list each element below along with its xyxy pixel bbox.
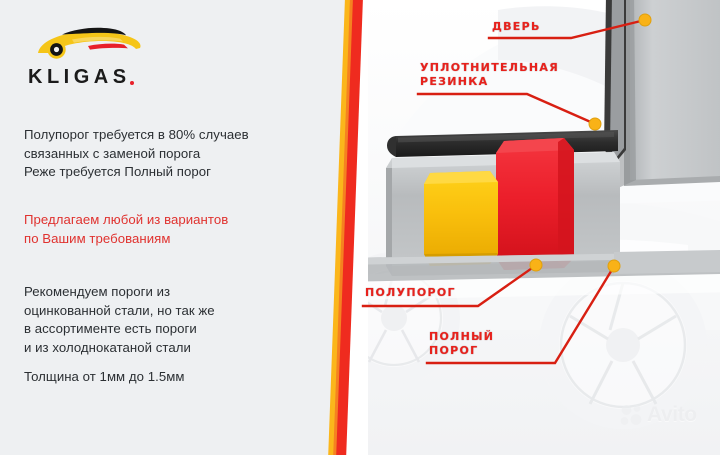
poster-root: KLIGAS Полупорог требуется в 80% случаев… <box>0 0 720 455</box>
sports-car-logo-icon <box>32 22 148 64</box>
avito-watermark: Avito <box>620 400 716 430</box>
text-recommendation: Рекомендуем пороги из оцинкованной стали… <box>24 283 324 357</box>
brand-logo: KLIGAS <box>24 22 184 94</box>
brand-wordmark: KLIGAS <box>28 66 131 89</box>
logo-accent-dot <box>130 81 134 85</box>
callout-label-half-sill: ПОЛУПОРОГ <box>365 286 456 300</box>
text-offer: Предлагаем любой из вариантов по Вашим т… <box>24 211 324 248</box>
callout-label-full-sill: ПОЛНЫЙ ПОРОГ <box>429 330 494 357</box>
left-info-panel: KLIGAS Полупорог требуется в 80% случаев… <box>0 0 345 455</box>
avito-watermark-text: Avito <box>647 403 697 427</box>
avito-dots-icon <box>620 404 644 426</box>
text-thickness: Толщина от 1мм до 1.5мм <box>24 368 324 387</box>
callout-label-door: ДВЕРЬ <box>492 20 541 34</box>
text-usage-stat: Полупорог требуется в 80% случаев связан… <box>24 126 324 182</box>
callout-label-seal: УПЛОТНИТЕЛЬНАЯ РЕЗИНКА <box>420 61 559 88</box>
